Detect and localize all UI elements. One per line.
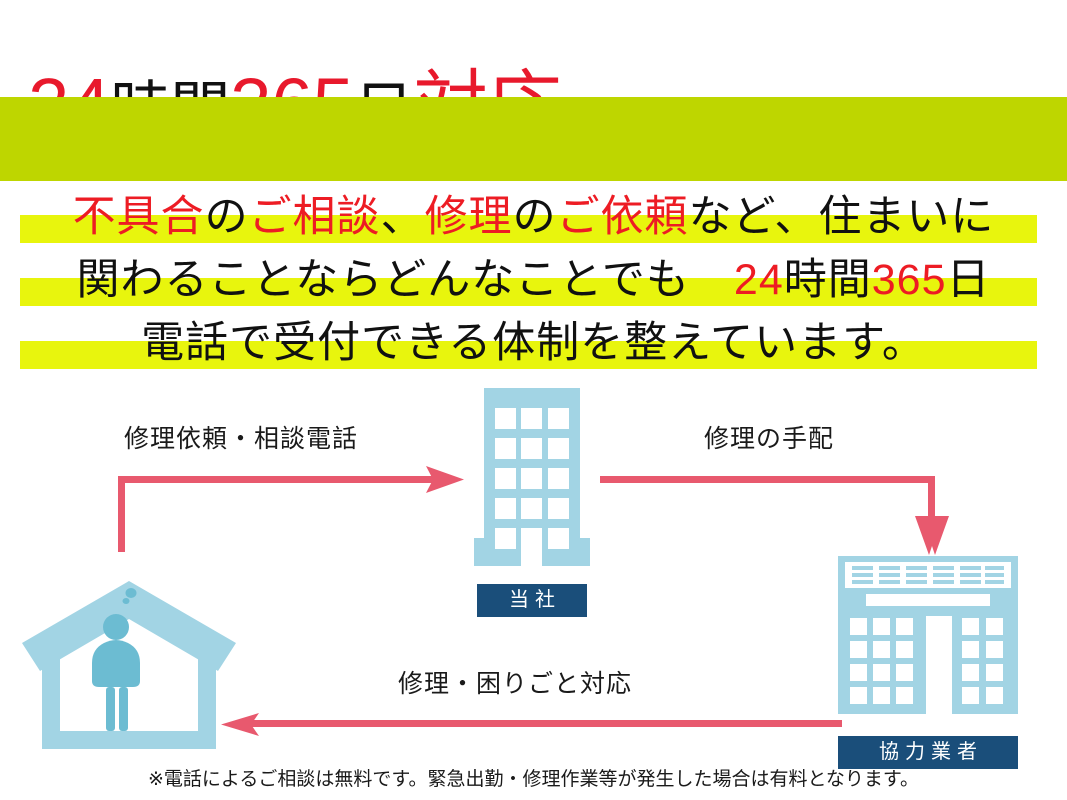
- copy-seg: ご相談: [249, 193, 381, 241]
- copy-seg: 不具合: [73, 193, 205, 241]
- poster-canvas: 24時間365日対応 不具合のご相談、修理のご依頼など、住まいに 関わることなら…: [0, 0, 1067, 800]
- arrow-request-head-icon: [424, 459, 466, 501]
- copy-seg: 365: [872, 256, 947, 304]
- copy-seg: 電話で受付できる体制を整えています。: [141, 319, 926, 367]
- arrow-label-dispatch: 修理の手配: [704, 424, 834, 454]
- lead-copy-line-3-text: 電話で受付できる体制を整えています。: [141, 312, 926, 375]
- arrow-dispatch-head-icon: [908, 514, 956, 558]
- copy-seg: 関わることならどんなことでも: [76, 256, 733, 304]
- arrow-request-shaft: [118, 476, 436, 483]
- arrow-service-shaft: [250, 720, 842, 727]
- lead-copy-line-2-text: 関わることならどんなことでも 24時間365日: [76, 249, 990, 312]
- lead-copy-line-3: 電話で受付できる体制を整えています。: [0, 312, 1067, 375]
- copy-seg: 24: [734, 256, 784, 304]
- arrow-request-stem: [118, 476, 125, 552]
- copy-seg: の: [205, 193, 249, 241]
- arrow-label-request: 修理依頼・相談電話: [124, 424, 358, 454]
- company-building-icon: [462, 388, 602, 578]
- copy-seg: 日: [947, 256, 991, 304]
- copy-seg: 時間: [784, 256, 872, 304]
- copy-seg: の: [513, 193, 557, 241]
- arrow-label-service: 修理・困りごと対応: [398, 669, 632, 699]
- copy-seg: 修理: [425, 193, 513, 241]
- lead-copy-line-1: 不具合のご相談、修理のご依頼など、住まいに: [0, 186, 1067, 249]
- house-icon: [18, 579, 240, 751]
- copy-seg: ご依頼: [557, 193, 689, 241]
- company-node-label: 当社: [477, 584, 587, 617]
- copy-seg: 、: [381, 193, 425, 241]
- lead-copy-line-2: 関わることならどんなことでも 24時間365日: [0, 249, 1067, 312]
- footnote-text: ※電話によるご相談は無料です。緊急出勤・修理作業等が発生した場合は有料となります…: [0, 768, 1067, 792]
- partner-building-icon: [838, 556, 1018, 744]
- green-accent-band: [0, 97, 1067, 181]
- copy-seg: など、住まいに: [689, 193, 995, 241]
- partner-node-label: 協力業者: [838, 736, 1018, 769]
- lead-copy-line-1-text: 不具合のご相談、修理のご依頼など、住まいに: [73, 186, 995, 249]
- service-flow-diagram: 修理依頼・相談電話 修理の手配 修理・困りごと対応: [0, 376, 1067, 766]
- arrow-dispatch-shaft: [600, 476, 935, 483]
- lead-copy-block: 不具合のご相談、修理のご依頼など、住まいに 関わることならどんなことでも 24時…: [0, 186, 1067, 376]
